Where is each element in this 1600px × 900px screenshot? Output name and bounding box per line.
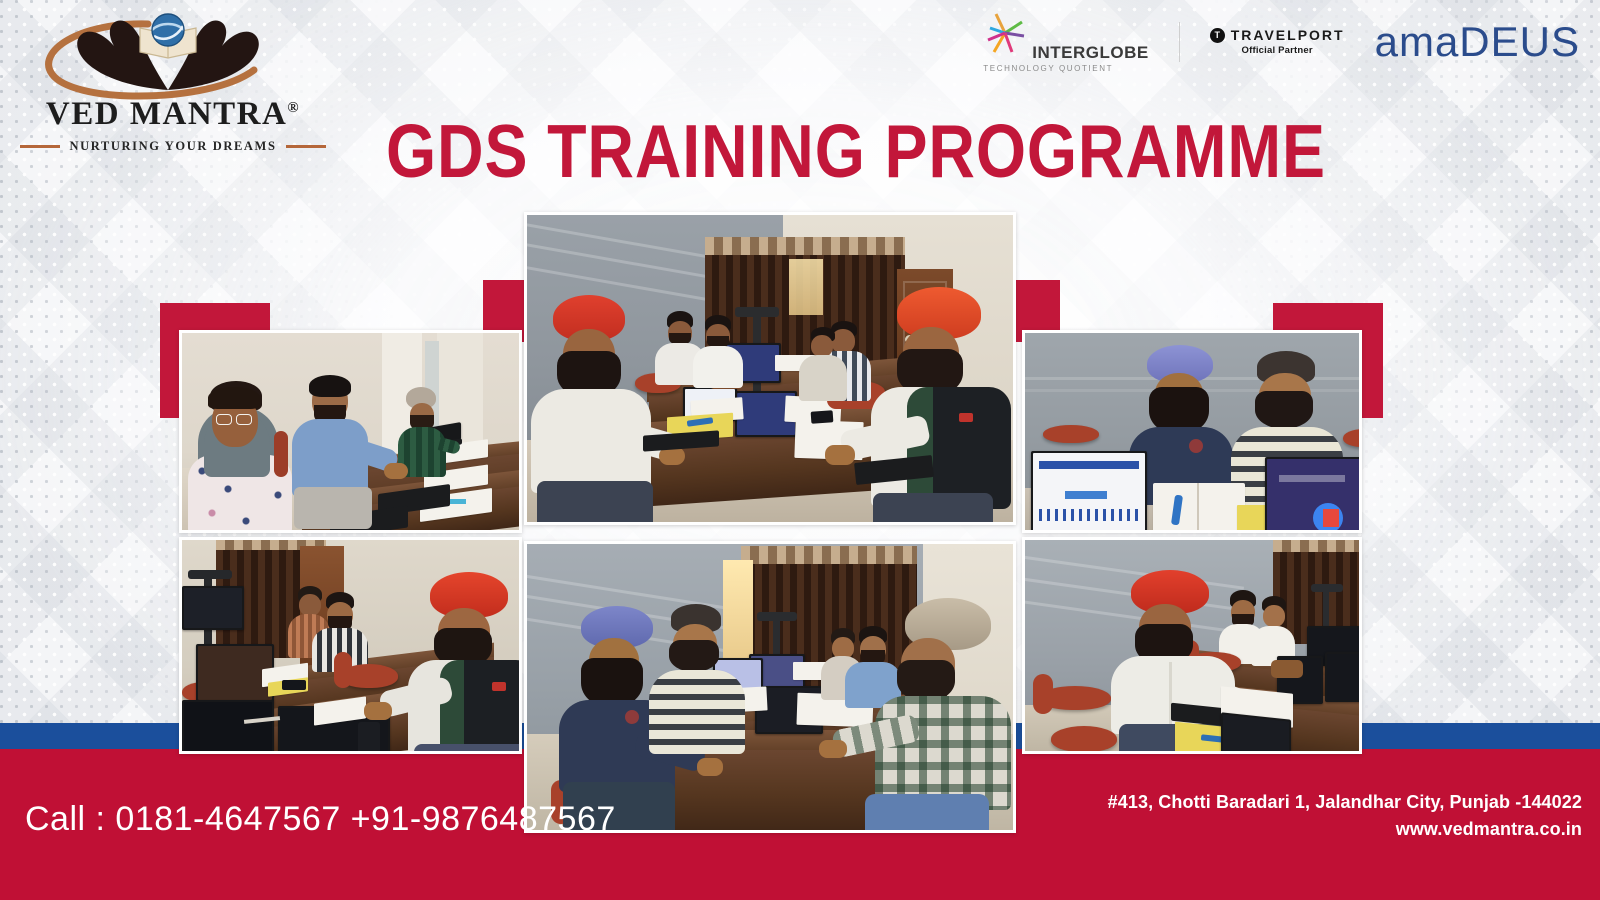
photo-top-right xyxy=(1022,330,1362,533)
photo-bottom-right xyxy=(1022,537,1362,754)
travelport-subtitle: Official Partner xyxy=(1242,45,1313,56)
interglobe-starburst-icon xyxy=(982,10,1028,61)
partner-interglobe: INTERGLOBE TECHNOLOGY QUOTIENT xyxy=(982,10,1148,73)
partner-amadeus: amaDEUS xyxy=(1375,21,1580,63)
brand-name: VED MANTRA® xyxy=(18,96,328,133)
travelport-name: TRAVELPORT xyxy=(1231,27,1345,43)
partner-divider xyxy=(1179,22,1180,62)
brand-logo: VED MANTRA® NURTURING YOUR DREAMS xyxy=(18,8,328,158)
interglobe-subtitle: TECHNOLOGY QUOTIENT xyxy=(983,64,1113,73)
travelport-circle-icon: T xyxy=(1210,28,1225,43)
call-text: Call : 0181-4647567 +91-9876487567 xyxy=(25,800,616,839)
partner-travelport: T TRAVELPORT Official Partner xyxy=(1210,27,1345,56)
tagline-dash-right xyxy=(286,145,326,148)
page-title: GDS TRAINING PROGRAMME xyxy=(386,108,1326,194)
interglobe-name: INTERGLOBE xyxy=(1032,44,1148,61)
brand-tagline: NURTURING YOUR DREAMS xyxy=(69,139,276,154)
partner-logos: INTERGLOBE TECHNOLOGY QUOTIENT T TRAVELP… xyxy=(982,10,1580,73)
logo-mark-icon xyxy=(18,8,328,103)
address-line: #413, Chotti Baradari 1, Jalandhar City,… xyxy=(1108,792,1582,813)
photo-center-top xyxy=(524,212,1016,525)
website-line: www.vedmantra.co.in xyxy=(1108,819,1582,840)
brand-tagline-row: NURTURING YOUR DREAMS xyxy=(18,139,328,154)
tagline-dash-left xyxy=(20,145,60,148)
photo-bottom-left xyxy=(179,537,522,754)
photo-top-left xyxy=(179,330,522,533)
address-block: #413, Chotti Baradari 1, Jalandhar City,… xyxy=(1108,792,1582,840)
photo-center-bottom xyxy=(524,541,1016,833)
